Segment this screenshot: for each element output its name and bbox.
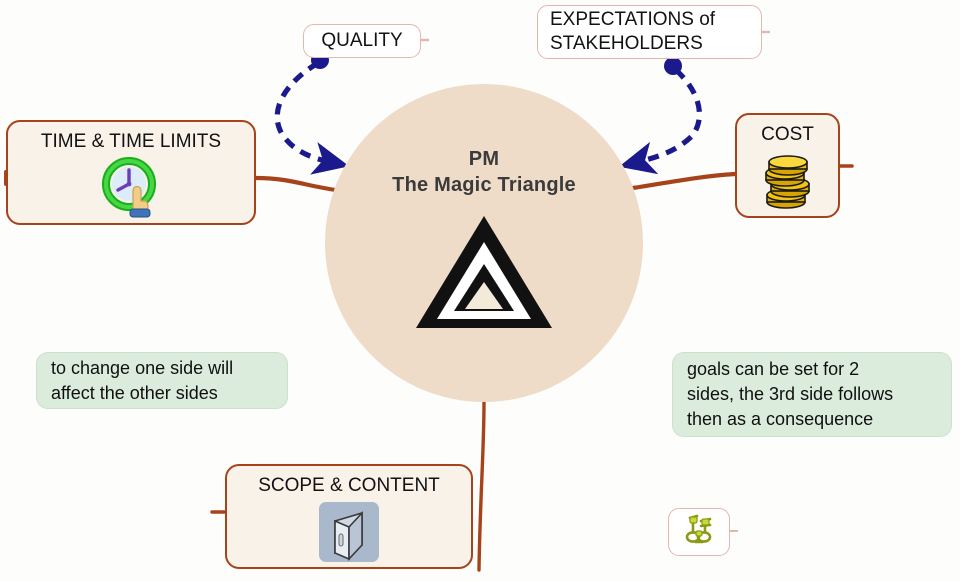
center-node[interactable]: PM The Magic Triangle — [325, 84, 643, 402]
note-left-line1: to change one side will — [51, 356, 233, 381]
note-right-line1: goals can be set for 2 — [687, 357, 893, 382]
topic-time[interactable]: TIME & TIME LIMITS — [6, 120, 256, 225]
center-title-line2: The Magic Triangle — [392, 172, 576, 198]
diagram-canvas: PM The Magic Triangle TIME & TIME LIMITS — [0, 0, 960, 582]
topic-cost[interactable]: COST — [735, 113, 840, 218]
center-title: PM The Magic Triangle — [392, 146, 576, 198]
topic-time-label: TIME & TIME LIMITS — [41, 131, 221, 153]
note-right: goals can be set for 2 sides, the 3rd si… — [672, 352, 952, 437]
callout-quality[interactable]: QUALITY — [303, 24, 421, 58]
callout-quality-label: QUALITY — [321, 29, 402, 53]
note-left: to change one side will affect the other… — [36, 352, 288, 409]
book-icon — [318, 501, 380, 568]
callout-expectations-line1: EXPECTATIONS of — [550, 8, 715, 32]
note-left-line2: affect the other sides — [51, 381, 233, 406]
expectations-dashed-arrow — [638, 70, 699, 162]
quality-dashed-arrow — [277, 63, 330, 162]
chain-link-icon — [680, 512, 718, 553]
clock-hand-icon — [100, 157, 162, 224]
callout-expectations-label: EXPECTATIONS of STAKEHOLDERS — [550, 8, 715, 56]
callout-expectations-line2: STAKEHOLDERS — [550, 32, 715, 56]
coin-stack-icon — [760, 150, 816, 217]
note-right-text: goals can be set for 2 sides, the 3rd si… — [687, 357, 893, 432]
note-right-line3: then as a consequence — [687, 407, 893, 432]
note-left-text: to change one side will affect the other… — [51, 356, 233, 406]
callout-expectations[interactable]: EXPECTATIONS of STAKEHOLDERS — [537, 5, 762, 59]
connector-scope — [479, 402, 484, 570]
connector-cost — [633, 174, 735, 188]
note-right-line2: sides, the 3rd side follows — [687, 382, 893, 407]
connector-time — [256, 178, 336, 190]
nested-triangle-icon — [414, 212, 554, 337]
expectations-arrow-origin-dot — [664, 57, 682, 75]
topic-cost-label: COST — [761, 124, 814, 146]
topic-scope-label: SCOPE & CONTENT — [258, 475, 440, 497]
topic-scope[interactable]: SCOPE & CONTENT — [225, 464, 473, 569]
center-title-line1: PM — [392, 146, 576, 172]
badge-chain[interactable] — [668, 508, 730, 556]
